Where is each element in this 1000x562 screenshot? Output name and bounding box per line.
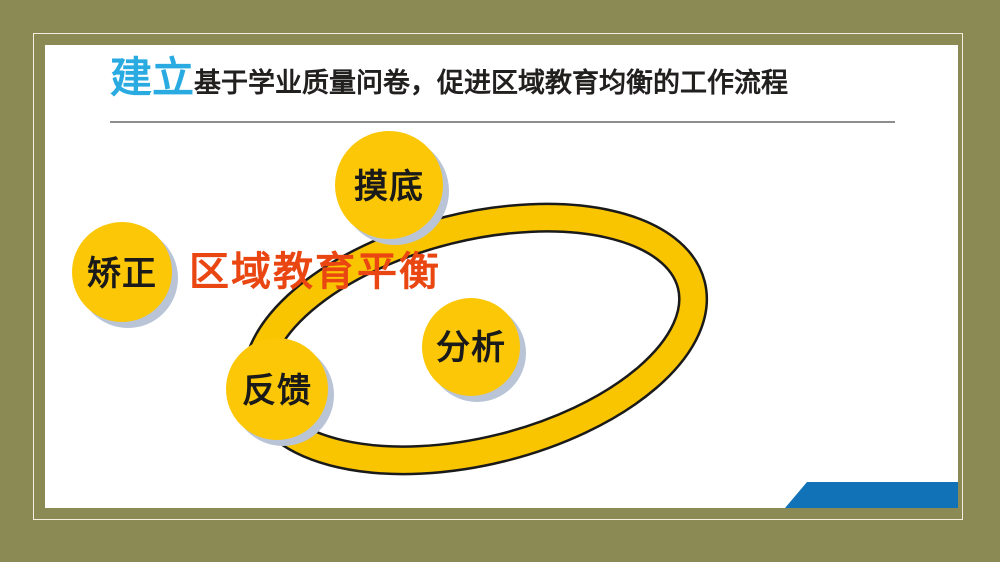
slide-header: 建立基于学业质量问卷，促进区域教育均衡的工作流程 [45, 45, 958, 135]
cycle-node-4-label: 矫正 [87, 255, 157, 293]
cycle-node-2-label: 分析 [436, 329, 506, 367]
page-title: 建立基于学业质量问卷，促进区域教育均衡的工作流程 [110, 57, 788, 99]
slide-content-card: 建立基于学业质量问卷，促进区域教育均衡的工作流程 [45, 45, 958, 508]
cycle-node-2[interactable]: 分析 [422, 298, 526, 402]
blue-accent-shape [785, 482, 958, 508]
cycle-node-1-label: 摸底 [354, 168, 424, 206]
cycle-node-4[interactable]: 矫正 [72, 222, 178, 328]
cycle-node-3-label: 反馈 [242, 372, 312, 410]
title-divider [110, 121, 895, 123]
slide-canvas: 建立基于学业质量问卷，促进区域教育均衡的工作流程 [0, 0, 1000, 562]
cycle-node-3[interactable]: 反馈 [226, 338, 334, 446]
cycle-diagram: 摸底 分析 反馈 矫正 [45, 125, 958, 508]
cycle-diagram-svg: 摸底 分析 反馈 矫正 [45, 125, 958, 508]
cycle-node-1[interactable]: 摸底 [335, 131, 449, 245]
page-title-rest: 基于学业质量问卷，促进区域教育均衡的工作流程 [194, 68, 788, 98]
cycle-center-label: 区域教育平衡 [189, 250, 441, 294]
page-title-accent: 建立 [110, 54, 194, 101]
